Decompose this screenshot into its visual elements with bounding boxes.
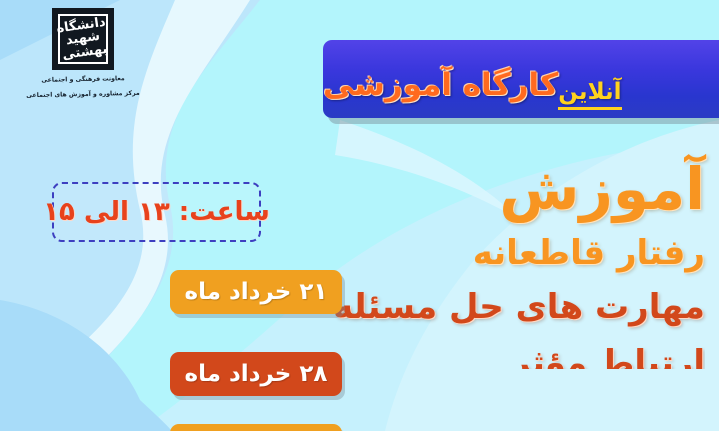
topic-line-3: ارتباط مؤثر (365, 343, 705, 369)
header-banner-row: کارگاه آموزشی آنلاین (323, 40, 719, 118)
logo-caption-line2: مرکز مشاوره و آموزش های اجتماعی (18, 88, 148, 100)
title-stack: آموزش رفتار قاطعانه مهارت های حل مسئله ا… (365, 160, 705, 369)
date-badge-1: ۲۱ خرداد ماه (170, 270, 342, 314)
page-title: آموزش (365, 160, 705, 219)
date-badge-3: ۴ تیر ماه (170, 424, 342, 431)
topic-line-2: مهارت های حل مسئله (365, 287, 705, 327)
workshop-poster: دانشگاه شهید بهشتی معاونت فرهنگی و اجتما… (0, 0, 719, 431)
time-box: ساعت: ۱۳ الی ۱۵ (52, 182, 261, 242)
time-label: ساعت: ۱۳ الی ۱۵ (43, 197, 270, 227)
banner-title: کارگاه آموزشی (323, 67, 558, 103)
logo-mark-text: دانشگاه شهید بهشتی (51, 7, 114, 70)
logo-caption-line1: معاونت فرهنگی و اجتماعی (18, 74, 148, 86)
date-badge-2: ۲۸ خرداد ماه (170, 352, 342, 396)
logo-mark-icon: دانشگاه شهید بهشتی (52, 8, 114, 70)
university-logo: دانشگاه شهید بهشتی معاونت فرهنگی و اجتما… (18, 8, 148, 99)
banner-subtitle-online: آنلاین (558, 79, 621, 110)
topic-line-1: رفتار قاطعانه (365, 233, 705, 273)
header-banner: کارگاه آموزشی آنلاین (323, 40, 719, 118)
